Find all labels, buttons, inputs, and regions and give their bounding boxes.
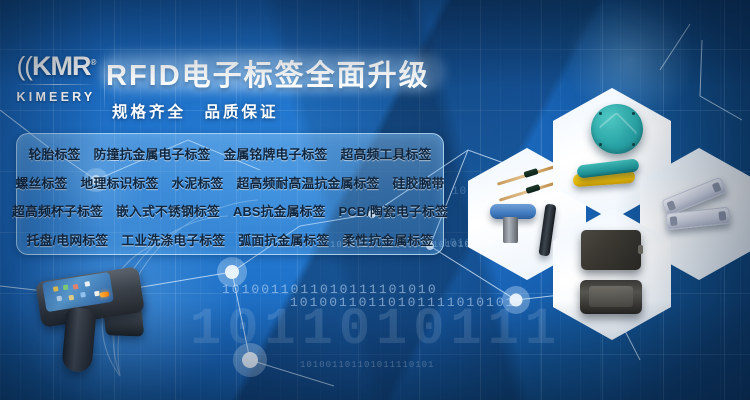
rfid-promo-banner: 1011010111 1010011011010111101010 101001… bbox=[0, 0, 750, 400]
edge-vignette bbox=[0, 0, 750, 400]
